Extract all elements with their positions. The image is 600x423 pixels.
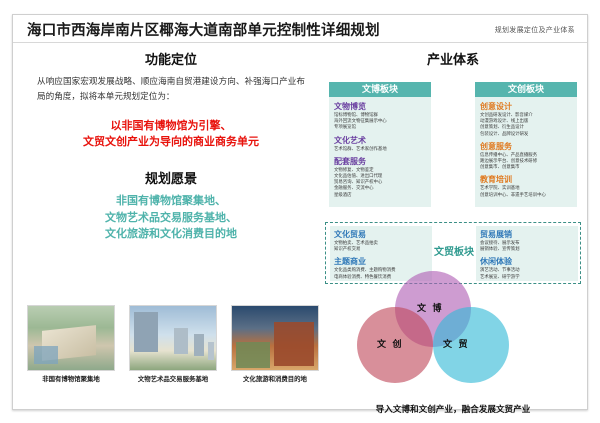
group-line: 创意集市、创意集市 — [480, 164, 573, 170]
vision-text: 非国有博物馆聚集地、 文物艺术品交易服务基地、 文化旅游和文化消费目的地 — [23, 193, 319, 243]
header-subtitle: 规划发展定位及产业体系 — [495, 25, 575, 35]
group-title: 文化贸易 — [334, 229, 428, 240]
group-item: 贸易展销 会议接待、展示发布 展销体验、宣传策划 — [480, 229, 574, 252]
venn-diagram: 文 博 文 创 文 贸 — [343, 271, 563, 371]
board-body: 文物博览 馆标博物馆、博物馆群 海外回流文物征集展示中心 专项展览馆 文化艺术 … — [329, 97, 431, 207]
board-cultural-museum: 文博板块 文物博览 馆标博物馆、博物馆群 海外回流文物征集展示中心 专项展览馆 … — [329, 82, 431, 207]
board-header-label: 文创板块 — [475, 82, 577, 97]
group-item: 文化贸易 文物拍卖、艺术品拍卖 知识产权交易 — [334, 229, 428, 252]
left-column: 功能定位 从响应国家宏观发展战略、顺应海南自贸港建设方向、补强海口产业布局的角度… — [23, 49, 319, 243]
group-title: 创意服务 — [480, 141, 573, 152]
function-body-text: 从响应国家宏观发展战略、顺应海南自贸港建设方向、补强海口产业布局的角度，拟将本单… — [23, 74, 319, 104]
photo-gallery: 非国有博物馆聚集地 文物艺术品交易服务基地 文化旅游和消费目的地 — [27, 305, 319, 383]
group-item: 创意服务 信息传播中心、产品直播服务 路边展示平台、创意技术研修 创意集市、创意… — [480, 141, 573, 171]
group-title: 配套服务 — [334, 156, 427, 167]
highlight-line-2: 文贸文创产业为导向的商业商务单元 — [23, 134, 319, 150]
group-item: 教育培训 艺术学院、实训基地 创意培训中心、非遗手艺培训中心 — [480, 174, 573, 197]
group-line: 专项展览馆 — [334, 124, 427, 130]
photo-caption: 非国有博物馆聚集地 — [27, 374, 115, 383]
page-title: 海口市西海岸南片区椰海大道南部单元控制性详细规划 — [27, 19, 380, 40]
group-line: 创意培训中心、非遗手艺培训中心 — [480, 192, 573, 198]
venn-caption: 导入文博和文创产业，融合发展文贸产业 — [325, 403, 581, 415]
group-title: 贸易展销 — [480, 229, 574, 240]
right-column: 产业体系 文博板块 文物博览 馆标博物馆、博物馆群 海外回流文物征集展示中心 专… — [325, 49, 581, 249]
board-cultural-creative: 文创板块 创意设计 文创品研发设计、影音媒介 动漫游戏设计、线上出版 创意策划、… — [475, 82, 577, 207]
art-trade-base-image — [129, 305, 217, 371]
photo-caption: 文化旅游和消费目的地 — [231, 374, 319, 383]
venn-label-trade: 文 贸 — [443, 337, 470, 350]
group-line: 展销体验、宣传策划 — [480, 246, 574, 252]
function-highlight: 以非国有博物馆为引擎、 文贸文创产业为导向的商业商务单元 — [23, 118, 319, 150]
group-title: 文化艺术 — [334, 135, 427, 146]
group-line: 艺术馆群、艺术家创作基地 — [334, 146, 427, 152]
photo-item: 非国有博物馆聚集地 — [27, 305, 115, 383]
function-heading: 功能定位 — [23, 49, 319, 68]
board-body: 创意设计 文创品研发设计、影音媒介 动漫游戏设计、线上出版 创意策划、衍生品设计… — [475, 97, 577, 207]
vision-heading: 规划愿景 — [23, 168, 319, 187]
group-line: 星级酒店 — [334, 192, 427, 198]
photo-item: 文物艺术品交易服务基地 — [129, 305, 217, 383]
industry-system-title: 产业体系 — [325, 49, 581, 68]
group-line: 包装设计、品牌设计研发 — [480, 131, 573, 137]
slide-canvas: 海口市西海岸南片区椰海大道南部单元控制性详细规划 规划发展定位及产业体系 功能定… — [12, 14, 588, 410]
photo-caption: 文物艺术品交易服务基地 — [129, 374, 217, 383]
highlight-line-1: 以非国有博物馆为引擎、 — [23, 118, 319, 134]
vision-line-2: 文物艺术品交易服务基地、 — [23, 210, 319, 227]
trade-center-label: 文贸板块 — [432, 243, 476, 258]
museum-cluster-image — [27, 305, 115, 371]
group-title: 休闲体验 — [480, 256, 574, 267]
group-title: 教育培训 — [480, 174, 573, 185]
group-item: 创意设计 文创品研发设计、影音媒介 动漫游戏设计、线上出版 创意策划、衍生品设计… — [480, 101, 573, 137]
slide-header: 海口市西海岸南片区椰海大道南部单元控制性详细规划 规划发展定位及产业体系 — [13, 15, 587, 43]
cultural-tourism-image — [231, 305, 319, 371]
board-header-label: 文博板块 — [329, 82, 431, 97]
group-title: 创意设计 — [480, 101, 573, 112]
vision-line-3: 文化旅游和文化消费目的地 — [23, 226, 319, 243]
group-item: 文物博览 馆标博物馆、博物馆群 海外回流文物征集展示中心 专项展览馆 — [334, 101, 427, 131]
group-title: 文物博览 — [334, 101, 427, 112]
photo-item: 文化旅游和消费目的地 — [231, 305, 319, 383]
industry-boards: 文博板块 文物博览 馆标博物馆、博物馆群 海外回流文物征集展示中心 专项展览馆 … — [325, 74, 581, 249]
group-line: 知识产权交易 — [334, 246, 428, 252]
group-title: 主题商业 — [334, 256, 428, 267]
venn-label-creative: 文 创 — [377, 337, 404, 350]
venn-label-museum: 文 博 — [417, 301, 444, 314]
vision-line-1: 非国有博物馆聚集地、 — [23, 193, 319, 210]
group-item: 配套服务 文物修复、文物鉴定 文化品估值、进出口代理 贸易咨询、知识产权中心 金… — [334, 156, 427, 198]
group-item: 文化艺术 艺术馆群、艺术家创作基地 — [334, 135, 427, 152]
